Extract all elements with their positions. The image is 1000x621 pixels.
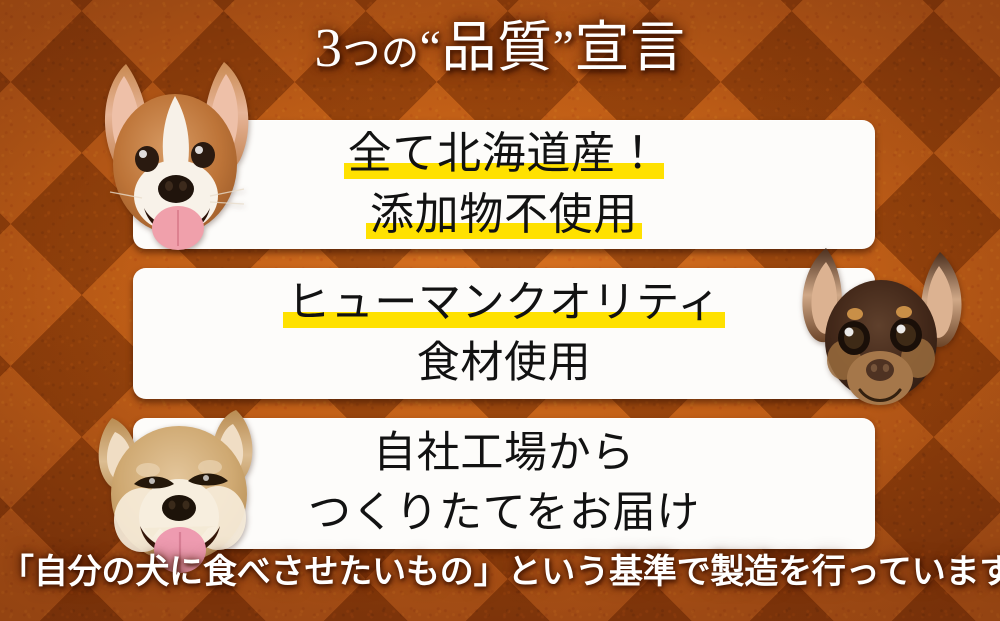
quality-card-2-line-1: ヒューマンクオリティ xyxy=(287,274,721,333)
quality-card-3-line-1: 自社工場から xyxy=(373,424,635,483)
quality-card-1-line-2: 添加物不使用 xyxy=(370,185,638,246)
quality-card-2: ヒューマンクオリティ 食材使用 xyxy=(133,268,875,399)
quality-card-2-lines: ヒューマンクオリティ 食材使用 xyxy=(133,268,875,399)
quality-card-3-line-2: つくりたてをお届け xyxy=(308,484,700,543)
title-close-quote: ” xyxy=(553,21,575,74)
quality-card-2-line-2: 食材使用 xyxy=(417,334,592,393)
quality-card-1-line-1: 全て北海道産！ xyxy=(348,124,661,185)
title-number: 3 xyxy=(314,17,342,78)
page-title: 3つの“品質”宣言 xyxy=(0,16,1000,81)
puppy-basenji-head-image xyxy=(84,56,266,256)
title-tail: 宣言 xyxy=(574,17,685,78)
chihuahua-head-image xyxy=(792,242,974,418)
title-keyword: 品質 xyxy=(441,17,552,78)
shiba-inu-head-image xyxy=(82,392,278,578)
footer-caption: 「自分の犬に食べさせたいもの」という基準で製造を行っています。 xyxy=(0,552,1000,593)
title-open-quote: “ xyxy=(420,21,442,74)
title-counter: つの xyxy=(343,33,420,75)
quality-declaration-poster: 3つの“品質”宣言 全て北海道産！ 添加物不使用 ヒューマンクオリティ 食材使用… xyxy=(0,0,1000,621)
